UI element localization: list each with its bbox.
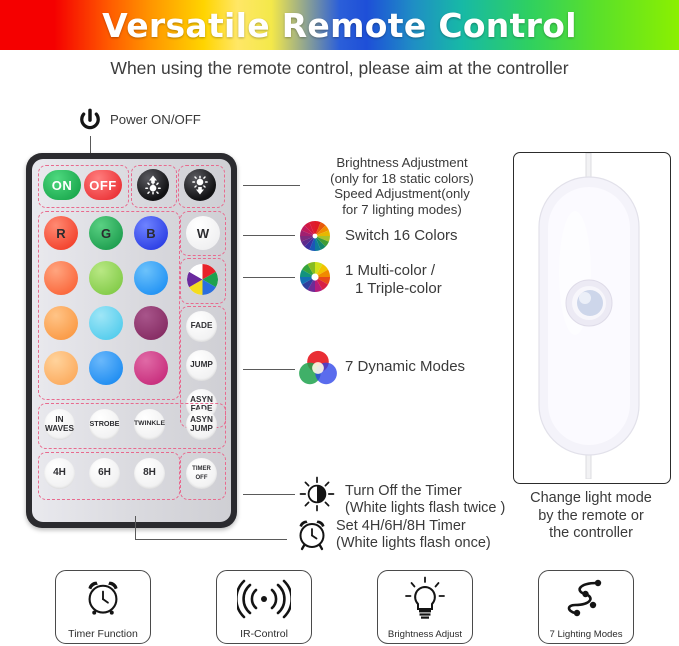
- feature-card-label: 7 Lighting Modes: [539, 629, 633, 640]
- timer-6h-button[interactable]: 6H: [89, 458, 120, 489]
- feature-card-label: Timer Function: [56, 628, 150, 640]
- strobe-button[interactable]: STROBE: [89, 409, 120, 440]
- set-timer-annotation: Set 4H/6H/8H Timer (White lights flash o…: [336, 518, 491, 552]
- multi-triple-line-2: 1 Triple-color: [345, 280, 442, 298]
- color-button-orange-red[interactable]: [44, 261, 78, 295]
- page-title: Versatile Remote Control: [0, 0, 679, 50]
- page-subtitle: When using the remote control, please ai…: [0, 58, 679, 79]
- connector-timer-off: [243, 494, 295, 495]
- half-sun-icon: [297, 474, 337, 514]
- feature-card-label: Brightness Adjust: [378, 629, 472, 640]
- ir-signal-icon: [237, 579, 291, 619]
- timer-8h-button[interactable]: 8H: [134, 458, 165, 489]
- brightness-line-4: for 7 lighting modes): [302, 202, 502, 218]
- multi-triple-annotation: 1 Multi-color / 1 Triple-color: [345, 262, 442, 298]
- color-button-magenta[interactable]: [134, 351, 168, 385]
- power-icon: [77, 108, 103, 134]
- controller-panel: [513, 152, 671, 484]
- connector-dynamic-modes: [243, 369, 295, 370]
- lighting-modes-icon: [561, 577, 611, 621]
- timer-4h-button[interactable]: 4H: [44, 458, 75, 489]
- color-button-plum[interactable]: [134, 306, 168, 340]
- multi-color-wedge-icon[interactable]: [187, 264, 218, 295]
- in-waves-button[interactable]: IN WAVES: [44, 409, 75, 440]
- asyn-jump-button[interactable]: ASYN JUMP: [186, 409, 217, 440]
- controller-caption: Change light mode by the remote or the c…: [505, 490, 677, 543]
- brightness-line-2: (only for 18 static colors): [302, 171, 502, 187]
- brightness-line-3: Speed Adjustment(only: [302, 186, 502, 202]
- brightness-annotation: Brightness Adjustment (only for 18 stati…: [302, 155, 502, 217]
- jump-button[interactable]: JUMP: [186, 350, 217, 381]
- off-button[interactable]: OFF: [84, 170, 122, 200]
- color-button-orange[interactable]: [44, 306, 78, 340]
- power-annotation-label: Power ON/OFF: [110, 112, 201, 128]
- alarm-clock-icon: [294, 516, 330, 552]
- color-button-sky[interactable]: [89, 306, 123, 340]
- alarm-clock-icon: [82, 577, 124, 619]
- controller-caption-line-3: the controller: [505, 525, 677, 543]
- dynamic-modes-annotation: 7 Dynamic Modes: [345, 359, 465, 375]
- timer-off-line-1: Turn Off the Timer: [345, 483, 505, 500]
- feature-card-timer[interactable]: Timer Function: [55, 570, 151, 644]
- connector-set-timer-vert: [135, 516, 136, 540]
- timer-off-line-2: (White lights flash twice ): [345, 500, 505, 517]
- rgb-venn-icon: [298, 350, 338, 386]
- inline-controller-icon: [514, 153, 666, 479]
- feature-card-brightness[interactable]: Brightness Adjust: [377, 570, 473, 644]
- set-timer-line-1: Set 4H/6H/8H Timer: [336, 518, 491, 535]
- switch-colors-annotation: Switch 16 Colors: [345, 228, 458, 244]
- multi-triple-line-1: 1 Multi-color /: [345, 262, 442, 280]
- feature-card-label: IR-Control: [217, 628, 311, 640]
- timer-off-button[interactable]: TIMER OFF: [186, 458, 217, 489]
- color-wheel-12-icon: [300, 262, 330, 292]
- on-button[interactable]: ON: [43, 170, 81, 200]
- connector-multi-triple: [243, 277, 295, 278]
- feature-card-modes[interactable]: 7 Lighting Modes: [538, 570, 634, 644]
- set-timer-line-2: (White lights flash once): [336, 535, 491, 552]
- color-button-azure[interactable]: [134, 261, 168, 295]
- color-button-blue[interactable]: [89, 351, 123, 385]
- color-button-lime[interactable]: [89, 261, 123, 295]
- brightness-down-icon[interactable]: [184, 169, 216, 201]
- controller-caption-line-1: Change light mode: [505, 490, 677, 508]
- connector-brightness: [243, 185, 300, 186]
- controller-caption-line-2: by the remote or: [505, 508, 677, 526]
- connector-set-timer: [135, 539, 287, 540]
- remote-control: ON OFF: [26, 153, 237, 528]
- fade-button[interactable]: FADE: [186, 311, 217, 342]
- brightness-line-1: Brightness Adjustment: [302, 155, 502, 171]
- remote-face: ON OFF: [32, 159, 231, 522]
- light-bulb-icon: [402, 576, 448, 622]
- feature-card-ir[interactable]: IR-Control: [216, 570, 312, 644]
- color-button-r[interactable]: R: [44, 216, 78, 250]
- brightness-up-icon[interactable]: [137, 169, 169, 201]
- color-wheel-16-icon: [300, 221, 330, 251]
- color-button-b[interactable]: B: [134, 216, 168, 250]
- color-button-w[interactable]: W: [186, 216, 220, 250]
- twinkle-button[interactable]: TWINKLE: [134, 409, 165, 440]
- connector-switch-colors: [243, 235, 295, 236]
- color-button-light-orange[interactable]: [44, 351, 78, 385]
- timer-off-annotation: Turn Off the Timer (White lights flash t…: [345, 483, 505, 517]
- color-button-g[interactable]: G: [89, 216, 123, 250]
